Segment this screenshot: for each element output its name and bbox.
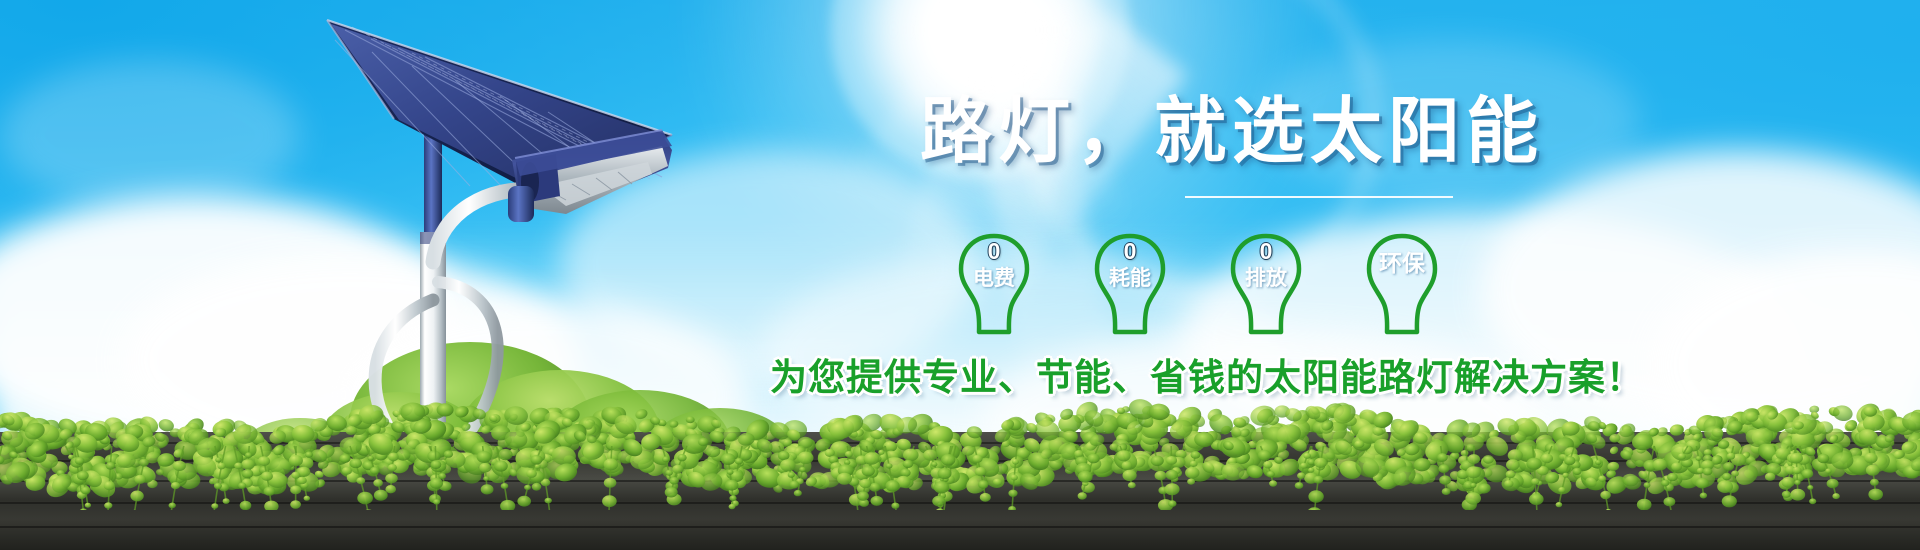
solar-street-light-banner: 路灯，就选太阳能 0电费0耗能0排放环保 为您提供专业、节能、省钱的太阳能路灯解… (0, 0, 1920, 550)
badge-label: 环保 (1363, 248, 1441, 278)
feature-badge: 0耗能 (1091, 232, 1169, 336)
page-title: 路灯，就选太阳能 (920, 96, 1544, 168)
badge-number: 0 (1091, 238, 1169, 265)
banner-copy: 路灯，就选太阳能 0电费0耗能0排放环保 为您提供专业、节能、省钱的太阳能路灯解… (0, 0, 1920, 550)
badge-number: 0 (955, 238, 1033, 265)
feature-badge-list: 0电费0耗能0排放环保 (955, 232, 1441, 336)
banner-subtitle: 为您提供专业、节能、省钱的太阳能路灯解决方案！ (770, 358, 1644, 399)
badge-label: 耗能 (1091, 266, 1169, 291)
feature-badge: 0电费 (955, 232, 1033, 336)
badge-label: 电费 (955, 266, 1033, 291)
badge-label: 排放 (1227, 266, 1305, 291)
feature-badge: 0排放 (1227, 232, 1305, 336)
feature-badge: 环保 (1363, 232, 1441, 336)
title-divider (1185, 196, 1453, 198)
badge-number: 0 (1227, 238, 1305, 265)
